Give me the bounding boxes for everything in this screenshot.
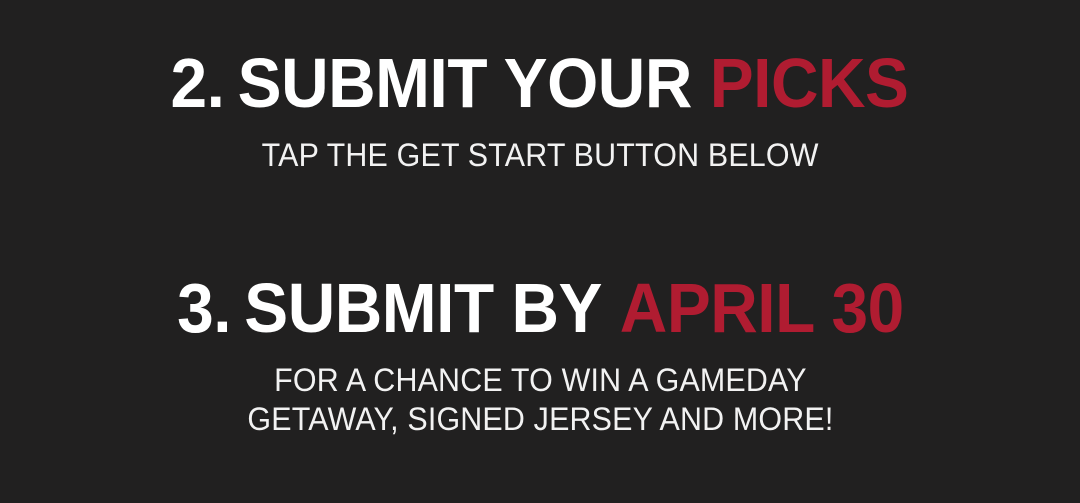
step-3-subtitle-line-2: GETAWAY, SIGNED JERSEY AND MORE! (247, 400, 833, 438)
step-2-headline: 2.SUBMIT YOUR PICKS (171, 48, 909, 118)
step-2-subtitle: TAP THE GET START BUTTON BELOW (262, 136, 819, 174)
step-2-headline-accent: PICKS (710, 44, 909, 122)
step-3-subtitle-line-1: FOR A CHANCE TO WIN A GAMEDAY (247, 361, 833, 399)
step-3-headline-main: SUBMIT BY (244, 269, 602, 347)
instruction-step-3: 3.SUBMIT BY APRIL 30 FOR A CHANCE TO WIN… (0, 273, 1080, 438)
step-3-headline: 3.SUBMIT BY APRIL 30 (177, 273, 904, 343)
step-2-headline-main: SUBMIT YOUR (238, 44, 692, 122)
promo-banner: 2.SUBMIT YOUR PICKS TAP THE GET START BU… (0, 0, 1080, 503)
step-2-number: 2. (171, 44, 225, 122)
instruction-step-2: 2.SUBMIT YOUR PICKS TAP THE GET START BU… (0, 48, 1080, 174)
step-3-subtitle: FOR A CHANCE TO WIN A GAMEDAY GETAWAY, S… (247, 361, 833, 438)
step-2-subtitle-line-1: TAP THE GET START BUTTON BELOW (262, 136, 819, 174)
step-3-headline-accent: APRIL 30 (619, 269, 903, 347)
step-3-number: 3. (177, 269, 231, 347)
